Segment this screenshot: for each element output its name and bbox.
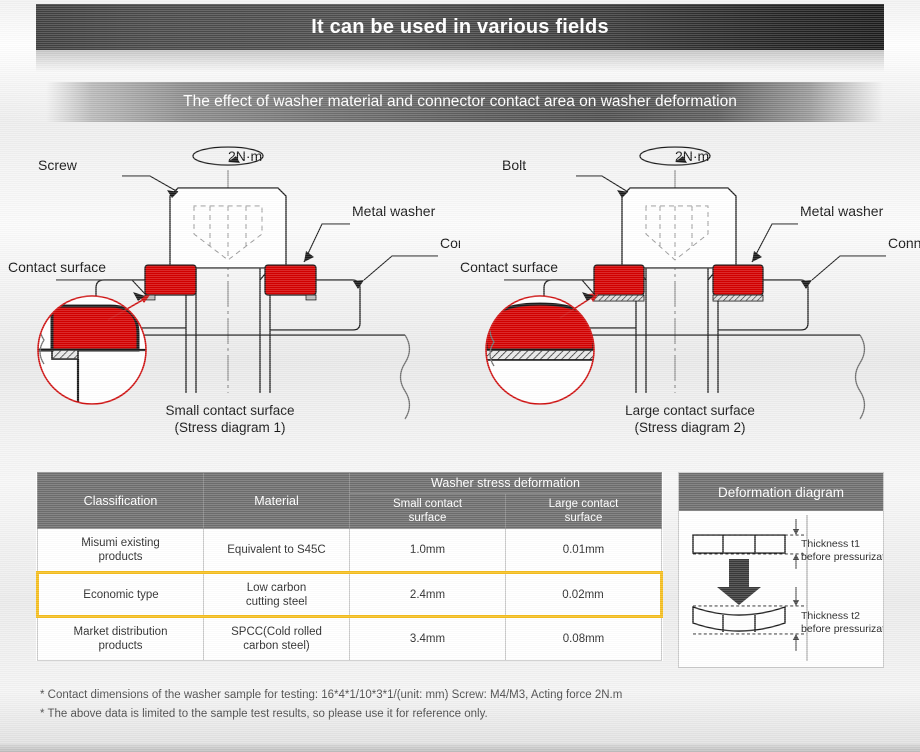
table-row: Misumi existing products Equivalent to S… bbox=[38, 529, 662, 573]
cell-small-contact: 2.4mm bbox=[350, 573, 506, 617]
stress-diagram-1-graphic: 2N·m Screw Metal washer Connector Contac… bbox=[0, 128, 460, 428]
contact-surface-label: Contact surface bbox=[460, 259, 558, 275]
bottom-strip bbox=[0, 744, 920, 752]
cell-classification: Misumi existing products bbox=[38, 529, 204, 573]
main-title-banner: It can be used in various fields bbox=[36, 4, 884, 50]
caption-line-1: Large contact surface bbox=[460, 402, 920, 419]
metal-washer-right bbox=[713, 265, 763, 295]
table-row-highlighted: Economic type Low carbon cutting steel 2… bbox=[38, 573, 662, 617]
banner-shadow bbox=[36, 50, 884, 72]
torque-label: 2N·m bbox=[675, 148, 709, 164]
cell-small-contact: 1.0mm bbox=[350, 529, 506, 573]
spec-table-container: Classification Material Washer stress de… bbox=[36, 472, 660, 676]
caption-line-2: (Stress diagram 2) bbox=[460, 419, 920, 436]
table-row: Market distribution products SPCC(Cold r… bbox=[38, 617, 662, 661]
footnotes: * Contact dimensions of the washer sampl… bbox=[40, 686, 880, 724]
torque-label: 2N·m bbox=[228, 148, 262, 164]
fastener-label: Bolt bbox=[502, 157, 526, 173]
stress-diagram-2: 2N·m Bolt Metal washer Connector Contact… bbox=[460, 128, 920, 458]
washer-after-pressurization bbox=[693, 607, 785, 631]
header-small-contact-surface: Small contact surface bbox=[350, 494, 506, 529]
stress-diagram-2-graphic: 2N·m Bolt Metal washer Connector Contact… bbox=[460, 128, 920, 428]
connector-label: Connector bbox=[888, 235, 920, 251]
deformation-diagram-body: Thickness t1 before pressurization Thick… bbox=[679, 511, 883, 667]
leader-screw bbox=[122, 176, 178, 192]
bolt-head bbox=[622, 188, 736, 268]
connector-label: Connector bbox=[440, 235, 460, 251]
washer-label: Metal washer bbox=[800, 203, 884, 219]
cell-classification: Market distribution products bbox=[38, 617, 204, 661]
leader-connector bbox=[812, 256, 886, 280]
contact-band-left bbox=[594, 295, 644, 301]
subtitle-text: The effect of washer material and connec… bbox=[183, 93, 737, 111]
cell-small-contact: 3.4mm bbox=[350, 617, 506, 661]
deformation-diagram-panel: Deformation diagram bbox=[678, 472, 884, 668]
cell-large-contact: 0.02mm bbox=[506, 573, 662, 617]
header-group-washer-stress-deformation: Washer stress deformation bbox=[350, 473, 662, 494]
main-title: It can be used in various fields bbox=[311, 16, 609, 39]
header-material: Material bbox=[204, 473, 350, 529]
leader-bolt bbox=[576, 176, 628, 192]
caption-line-2: (Stress diagram 1) bbox=[0, 419, 460, 436]
header-large-contact-surface: Large contact surface bbox=[506, 494, 662, 529]
cell-large-contact: 0.08mm bbox=[506, 617, 662, 661]
header-classification: Classification bbox=[38, 473, 204, 529]
footnote-2: * The above data is limited to the sampl… bbox=[40, 705, 880, 724]
deformation-graphic: Thickness t1 before pressurization Thick… bbox=[679, 511, 883, 665]
metal-washer-left bbox=[145, 265, 196, 295]
label-thickness-t2-line2: before pressurization bbox=[801, 623, 883, 635]
label-thickness-t1-line2: before pressurization bbox=[801, 551, 883, 563]
fastener-label: Screw bbox=[38, 157, 78, 173]
contact-band-right bbox=[713, 295, 763, 301]
metal-washer-left bbox=[594, 265, 644, 295]
metal-washer-right bbox=[265, 265, 316, 295]
contact-patch-right bbox=[306, 295, 316, 300]
table-body: Misumi existing products Equivalent to S… bbox=[38, 529, 662, 661]
cell-classification: Economic type bbox=[38, 573, 204, 617]
cell-material: Low carbon cutting steel bbox=[204, 573, 350, 617]
footnote-1: * Contact dimensions of the washer sampl… bbox=[40, 686, 880, 705]
contact-surface-label: Contact surface bbox=[8, 259, 106, 275]
subtitle-banner: The effect of washer material and connec… bbox=[0, 82, 920, 122]
label-thickness-t1-line1: Thickness t1 bbox=[801, 538, 860, 550]
spec-table: Classification Material Washer stress de… bbox=[36, 472, 663, 661]
washer-label: Metal washer bbox=[352, 203, 436, 219]
cell-material: Equivalent to S45C bbox=[204, 529, 350, 573]
caption-line-1: Small contact surface bbox=[0, 402, 460, 419]
stress-diagrams-area: 2N·m Screw Metal washer Connector Contac… bbox=[0, 128, 920, 458]
cell-material: SPCC(Cold rolled carbon steel) bbox=[204, 617, 350, 661]
leader-connector bbox=[364, 256, 438, 280]
cell-large-contact: 0.01mm bbox=[506, 529, 662, 573]
table-header-row-1: Classification Material Washer stress de… bbox=[38, 473, 662, 494]
deformation-diagram-title: Deformation diagram bbox=[679, 473, 883, 511]
pressure-arrow-icon bbox=[717, 559, 761, 605]
label-thickness-t2-line1: Thickness t2 bbox=[801, 610, 860, 622]
stress-diagram-1: 2N·m Screw Metal washer Connector Contac… bbox=[0, 128, 460, 458]
washer-before-pressurization bbox=[693, 535, 785, 553]
